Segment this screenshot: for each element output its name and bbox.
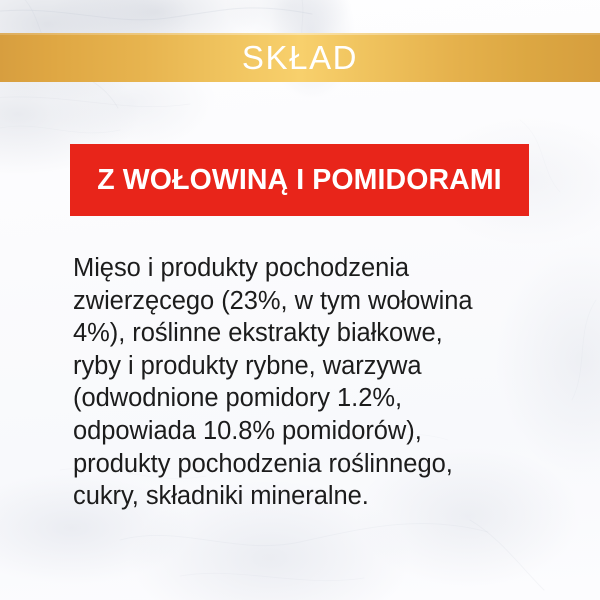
ingredients-line: Mięso i produkty pochodzenia <box>73 252 543 285</box>
ingredients-line: cukry, składniki mineralne. <box>73 480 543 513</box>
ingredients-line: 4%), roślinne ekstrakty białkowe, <box>73 317 543 350</box>
section-header-banner: SKŁAD <box>0 33 600 82</box>
ingredients-line: produkty pochodzenia roślinnego, <box>73 448 543 481</box>
product-variant-banner: Z WOŁOWINĄ I POMIDORAMI <box>70 144 529 216</box>
product-variant-title: Z WOŁOWINĄ I POMIDORAMI <box>97 166 501 195</box>
ingredients-paragraph: Mięso i produkty pochodzenia zwierzęcego… <box>73 252 543 513</box>
ingredients-line: odpowiada 10.8% pomidorów), <box>73 415 543 448</box>
ingredients-line: (odwodnione pomidory 1.2%, <box>73 382 543 415</box>
ingredients-line: zwierzęcego (23%, w tym wołowina <box>73 285 543 318</box>
ingredients-line: ryby i produkty rybne, warzywa <box>73 350 543 383</box>
packaging-ingredients-panel: SKŁAD Z WOŁOWINĄ I POMIDORAMI Mięso i pr… <box>0 0 600 600</box>
page-title: SKŁAD <box>242 41 358 74</box>
